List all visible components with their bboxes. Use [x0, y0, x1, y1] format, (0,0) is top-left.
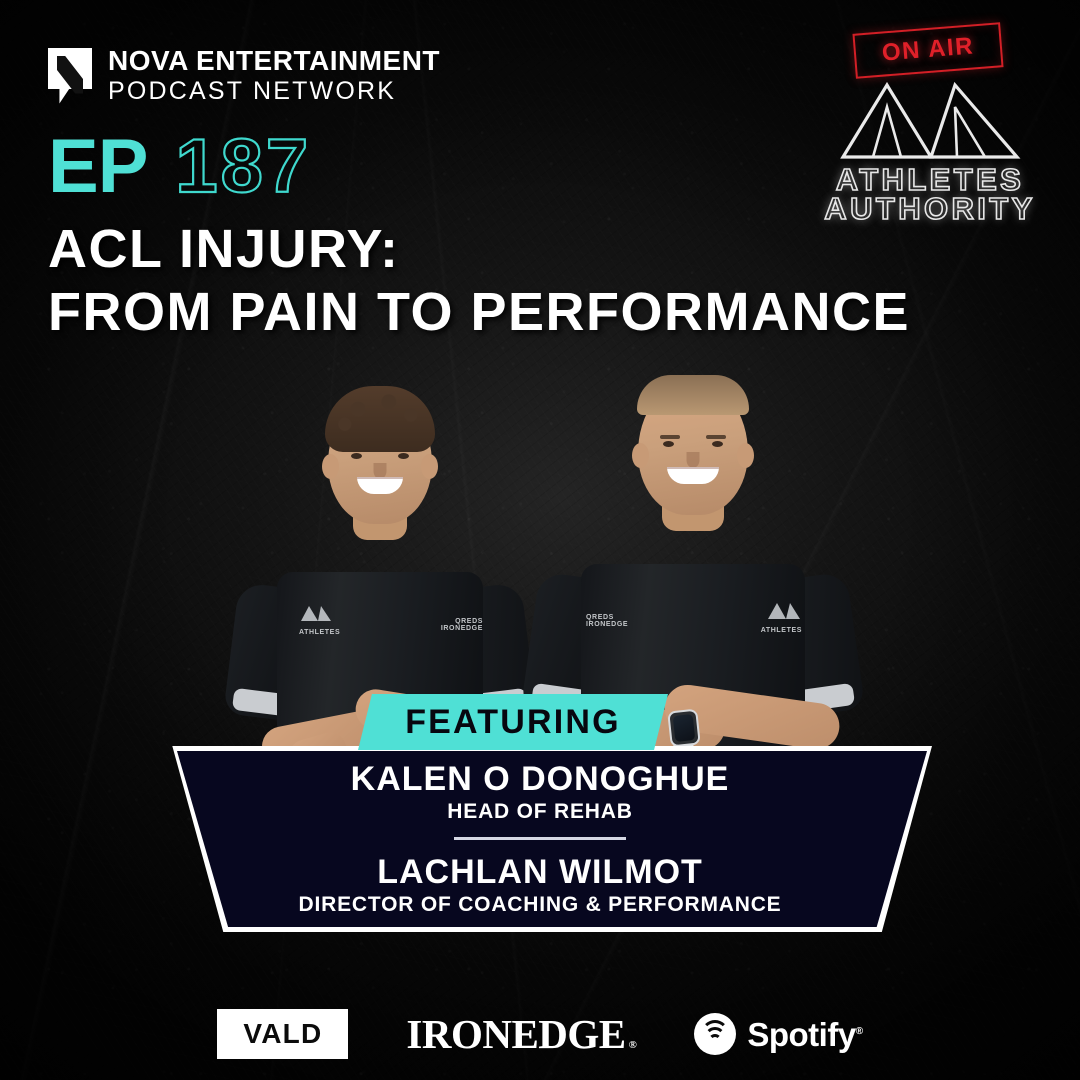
episode-number: 187	[175, 136, 311, 198]
host-b-polo-aa-logo: ATHLETES	[761, 601, 802, 634]
nova-logo-line1: NOVA ENTERTAINMENT	[108, 47, 440, 75]
athletes-authority-logo: ON AIR ATHLETES AUTHORITY	[820, 28, 1040, 223]
spotify-wordmark: Spotify®	[747, 1018, 862, 1051]
ironedge-wordmark: IRONEDGE	[406, 1014, 625, 1055]
host-b-hair	[637, 375, 749, 415]
sponsor-logos: VALD IRONEDGE ® Spotify®	[0, 1006, 1080, 1062]
on-air-badge: ON AIR	[852, 22, 1003, 78]
host-a-hair	[325, 386, 435, 452]
ironedge-registered-mark: ®	[629, 1040, 637, 1051]
guests-panel: KALEN O DONOGHUE HEAD OF REHAB LACHLAN W…	[148, 746, 932, 932]
athletes-authority-chevron-icon	[820, 77, 1040, 163]
aa-name-line1: ATHLETES	[836, 165, 1025, 194]
vald-logo: VALD	[217, 1009, 348, 1059]
host-b-smartwatch-icon	[667, 709, 701, 748]
nova-shield-n-icon	[48, 48, 92, 104]
athletes-authority-wordmark: ATHLETES AUTHORITY	[820, 165, 1040, 223]
guest-name-1: KALEN O DONOGHUE	[351, 761, 730, 797]
guest-role-1: HEAD OF REHAB	[447, 800, 632, 824]
guest-name-2: LACHLAN WILMOT	[377, 854, 703, 890]
episode-number-block: EP 187	[48, 136, 311, 198]
featuring-banner: FEATURING	[358, 694, 668, 750]
ironedge-logo: IRONEDGE ®	[406, 1014, 636, 1055]
episode-label: EP	[48, 136, 147, 198]
spotify-circle-icon	[694, 1013, 736, 1055]
host-a-polo-sponsor-logo: QREDS IRONEDGE	[441, 618, 483, 632]
episode-title: ACL INJURY: FROM PAIN TO PERFORMANCE	[48, 218, 910, 343]
spotify-logo[interactable]: Spotify®	[694, 1013, 862, 1055]
guest-role-2: DIRECTOR OF COACHING & PERFORMANCE	[299, 893, 782, 917]
podcast-cover-art: NOVA ENTERTAINMENT PODCAST NETWORK ON AI…	[0, 0, 1080, 1080]
nova-entertainment-logo: NOVA ENTERTAINMENT PODCAST NETWORK	[48, 47, 440, 104]
host-a-polo-aa-logo: ATHLETES	[299, 604, 340, 636]
nova-logo-line2: PODCAST NETWORK	[108, 79, 440, 104]
featuring-label: FEATURING	[405, 703, 621, 742]
episode-title-line1: ACL INJURY:	[48, 218, 910, 281]
nova-wordmark: NOVA ENTERTAINMENT PODCAST NETWORK	[108, 47, 440, 104]
guest-separator	[454, 837, 626, 840]
host-b-polo-sponsor-logo: QREDS IRONEDGE	[586, 614, 628, 628]
